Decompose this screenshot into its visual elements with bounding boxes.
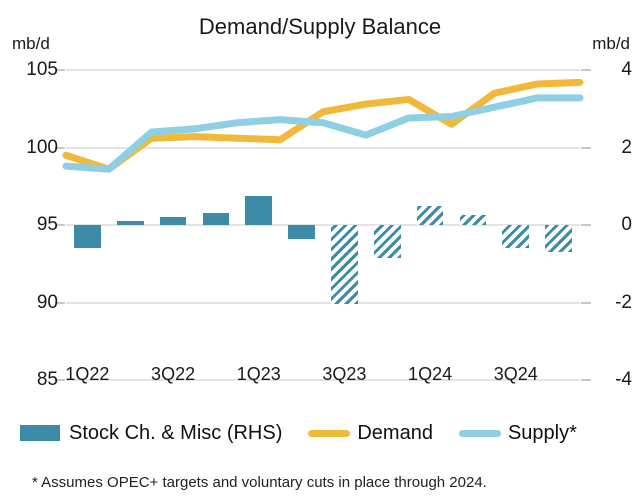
- right-axis-unit-label: mb/d: [592, 34, 630, 54]
- right-axis-tick-label: 0: [588, 214, 632, 236]
- right-axis-tick-label: 2: [588, 137, 632, 159]
- legend-item-label: Demand: [357, 422, 433, 445]
- legend-line-swatch: [308, 430, 350, 437]
- legend-bar-swatch: [20, 425, 60, 441]
- x-axis-tick-label: 3Q22: [151, 364, 195, 385]
- left-axis-tick-label: 95: [8, 214, 58, 236]
- legend-item[interactable]: Stock Ch. & Misc (RHS): [20, 422, 282, 445]
- legend-item[interactable]: Supply*: [459, 422, 577, 445]
- x-axis-tick-label: 1Q22: [65, 364, 109, 385]
- plot-area: [66, 70, 580, 380]
- right-axis-tick-label: -2: [588, 292, 632, 314]
- left-axis-unit-label: mb/d: [12, 34, 50, 54]
- x-axis-tick-label: 1Q24: [408, 364, 452, 385]
- chart-footnote: * Assumes OPEC+ targets and voluntary cu…: [32, 474, 487, 491]
- right-axis-tick-label: 4: [588, 59, 632, 81]
- legend-line-swatch: [459, 430, 501, 437]
- left-axis-tick-label: 90: [8, 292, 58, 314]
- legend-item[interactable]: Demand: [308, 422, 433, 445]
- chart-container: Demand/Supply Balance mb/d mb/d 85909510…: [0, 0, 640, 504]
- line-series-layer: [66, 70, 580, 380]
- x-axis-tick-label: 3Q23: [322, 364, 366, 385]
- legend-item-label: Stock Ch. & Misc (RHS): [69, 422, 282, 445]
- right-axis-tick-label: -4: [588, 369, 632, 391]
- chart-title: Demand/Supply Balance: [0, 14, 640, 40]
- left-axis-tick-label: 85: [8, 369, 58, 391]
- left-axis-tick-label: 105: [8, 59, 58, 81]
- x-axis-tick-label: 1Q23: [237, 364, 281, 385]
- x-axis-tick-label: 3Q24: [494, 364, 538, 385]
- legend-item-label: Supply*: [508, 422, 577, 445]
- left-axis-tick-label: 100: [8, 137, 58, 159]
- chart-legend: Stock Ch. & Misc (RHS)DemandSupply*: [20, 416, 640, 450]
